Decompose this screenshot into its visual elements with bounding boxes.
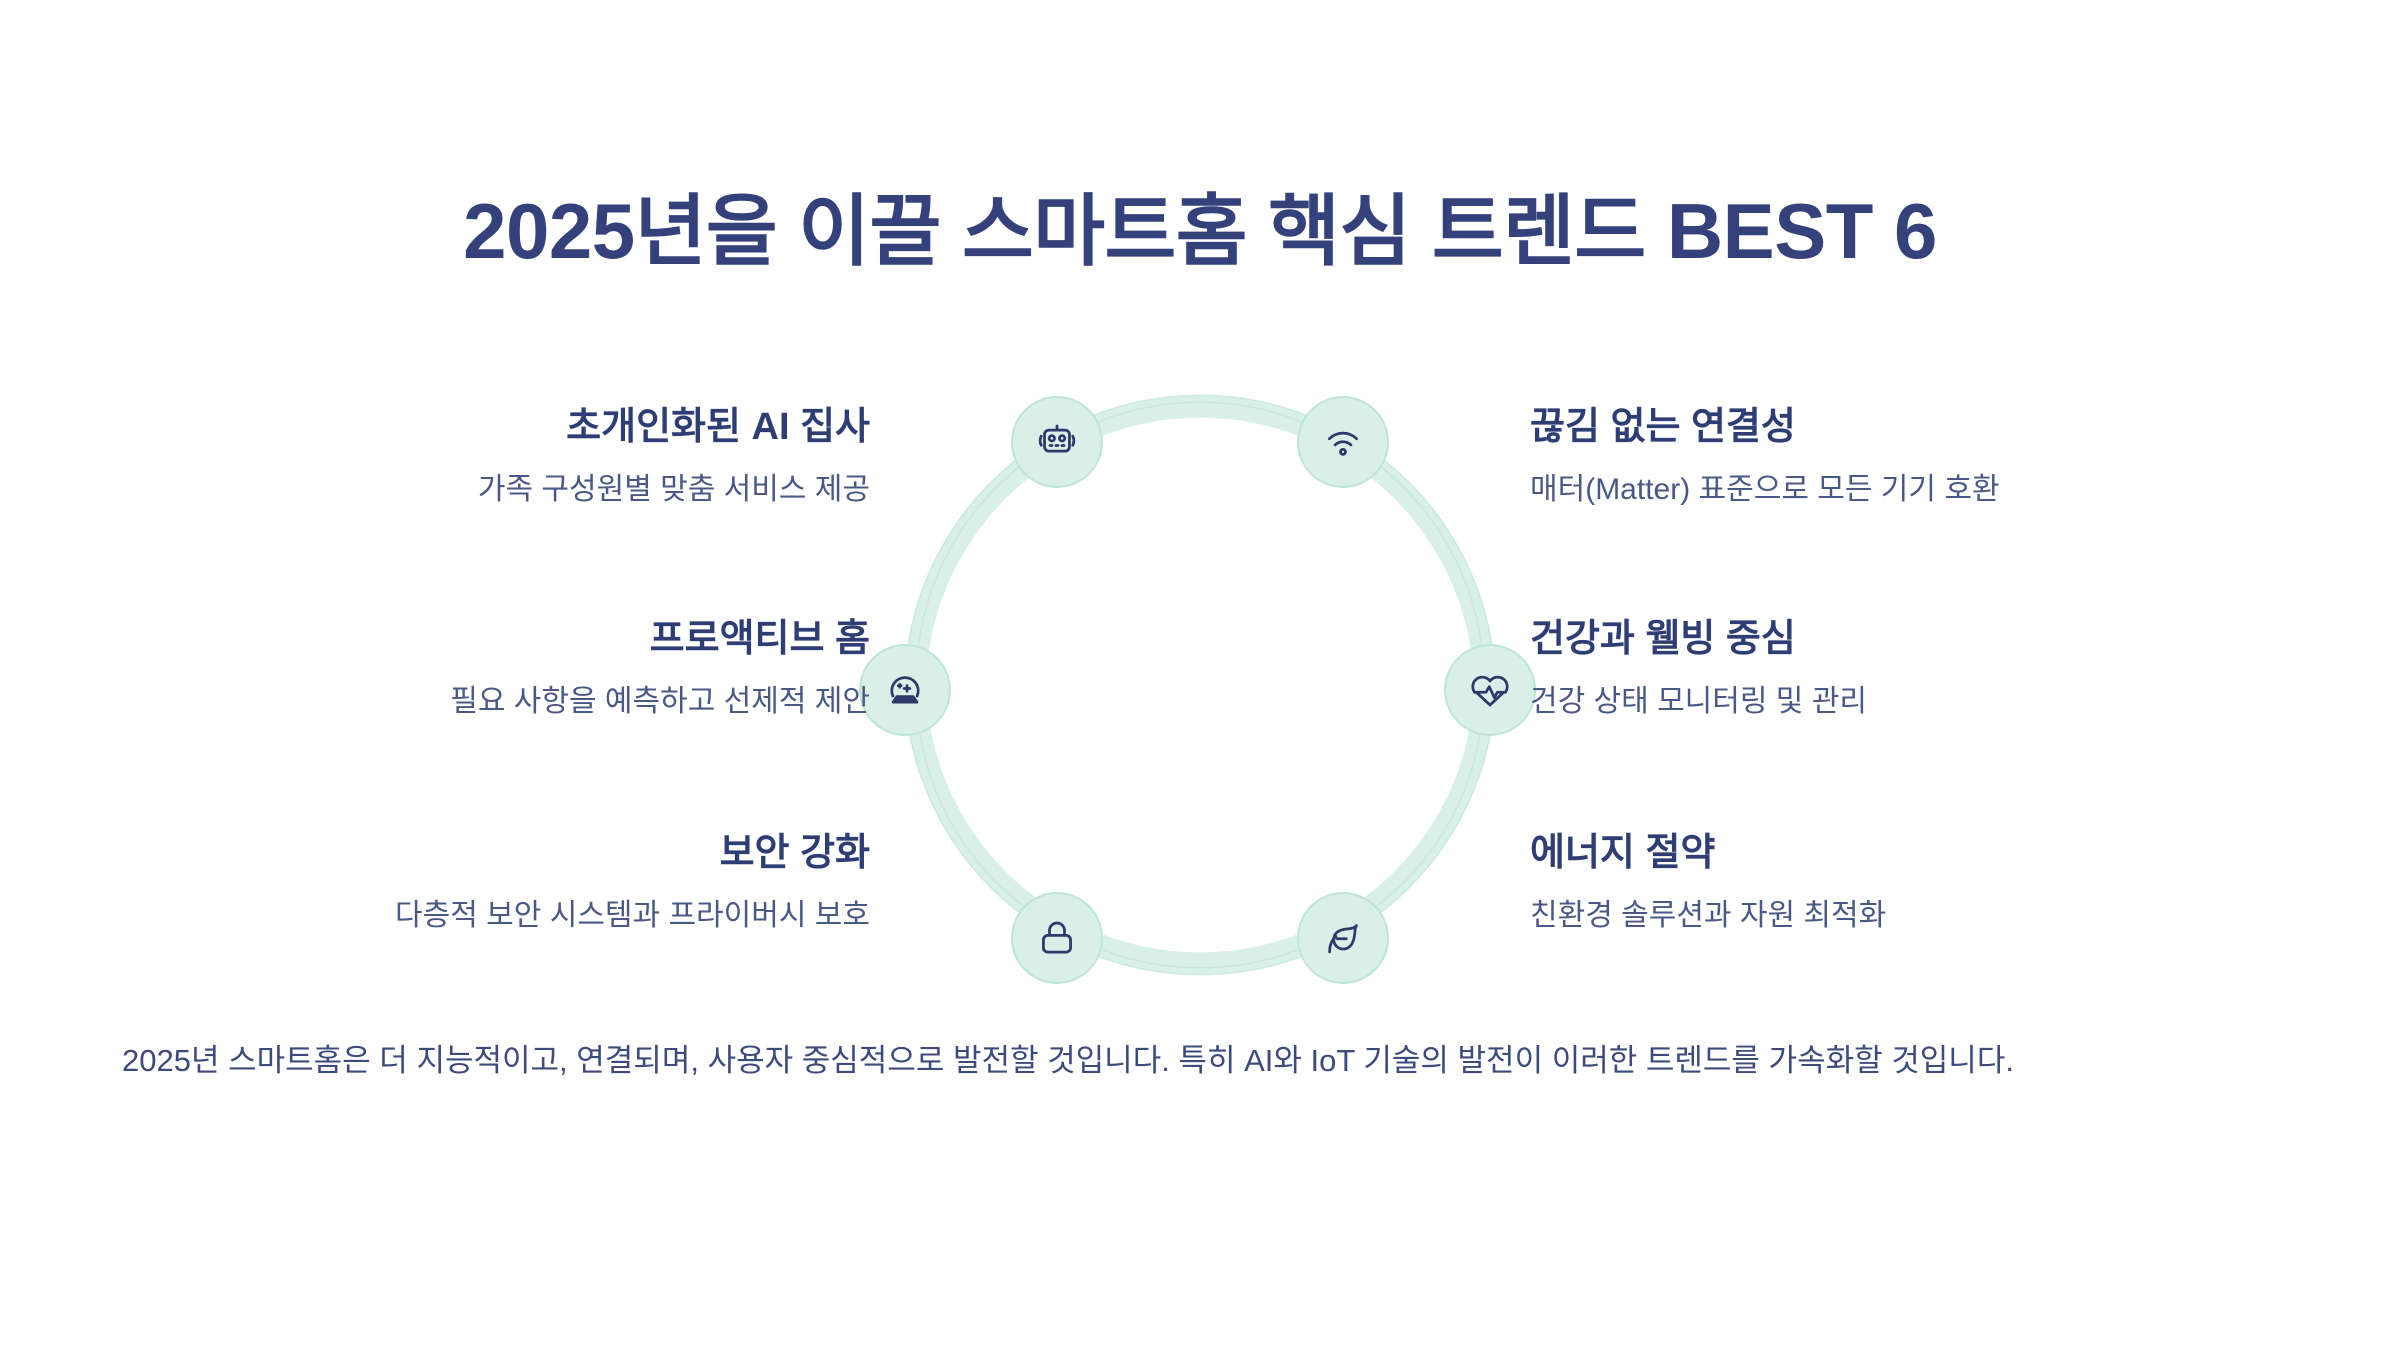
robot-icon xyxy=(1035,420,1079,464)
node-seamless-connectivity[interactable] xyxy=(1297,396,1389,488)
item-description: 친환경 솔루션과 자원 최적화 xyxy=(1530,896,2270,935)
item-description: 다층적 보안 시스템과 프라이버시 보호 xyxy=(130,896,870,935)
wifi-icon xyxy=(1321,420,1365,464)
item-title: 건강과 웰빙 중심 xyxy=(1530,616,2270,664)
heart-pulse-icon xyxy=(1468,668,1512,712)
item-proactive-home: 프로액티브 홈 필요 사항을 예측하고 선제적 제안 xyxy=(130,616,870,721)
item-title: 에너지 절약 xyxy=(1530,830,2270,878)
node-ai-butler[interactable] xyxy=(1011,396,1103,488)
item-security: 보안 강화 다층적 보안 시스템과 프라이버시 보호 xyxy=(130,830,870,935)
item-health-wellbeing: 건강과 웰빙 중심 건강 상태 모니터링 및 관리 xyxy=(1530,616,2270,721)
page-title: 2025년을 이끌 스마트홈 핵심 트렌드 BEST 6 xyxy=(0,188,2400,275)
item-title: 끊김 없는 연결성 xyxy=(1530,404,2270,452)
node-health-wellbeing[interactable] xyxy=(1444,644,1536,736)
node-energy-saving[interactable] xyxy=(1297,892,1389,984)
crystal-ball-icon xyxy=(883,668,927,712)
item-title: 프로액티브 홈 xyxy=(130,616,870,664)
item-description: 매터(Matter) 표준으로 모든 기기 호환 xyxy=(1530,470,2270,509)
ring-track xyxy=(905,390,1495,980)
item-title: 초개인화된 AI 집사 xyxy=(130,404,870,452)
item-description: 가족 구성원별 맞춤 서비스 제공 xyxy=(130,470,870,509)
item-title: 보안 강화 xyxy=(130,830,870,878)
item-description: 필요 사항을 예측하고 선제적 제안 xyxy=(130,682,870,721)
item-description: 건강 상태 모니터링 및 관리 xyxy=(1530,682,2270,721)
item-seamless-connectivity: 끊김 없는 연결성 매터(Matter) 표준으로 모든 기기 호환 xyxy=(1530,404,2270,509)
infographic-page: 2025년을 이끌 스마트홈 핵심 트렌드 BEST 6 xyxy=(0,0,2400,1350)
trend-diagram: 초개인화된 AI 집사 가족 구성원별 맞춤 서비스 제공 프로액티브 홈 필요… xyxy=(0,330,2400,1030)
lock-icon xyxy=(1035,916,1079,960)
node-proactive-home[interactable] xyxy=(859,644,951,736)
leaf-icon xyxy=(1321,916,1365,960)
item-ai-butler: 초개인화된 AI 집사 가족 구성원별 맞춤 서비스 제공 xyxy=(130,404,870,509)
item-energy-saving: 에너지 절약 친환경 솔루션과 자원 최적화 xyxy=(1530,830,2270,935)
summary-paragraph: 2025년 스마트홈은 더 지능적이고, 연결되며, 사용자 중심적으로 발전할… xyxy=(122,1036,2292,1086)
node-security[interactable] xyxy=(1011,892,1103,984)
